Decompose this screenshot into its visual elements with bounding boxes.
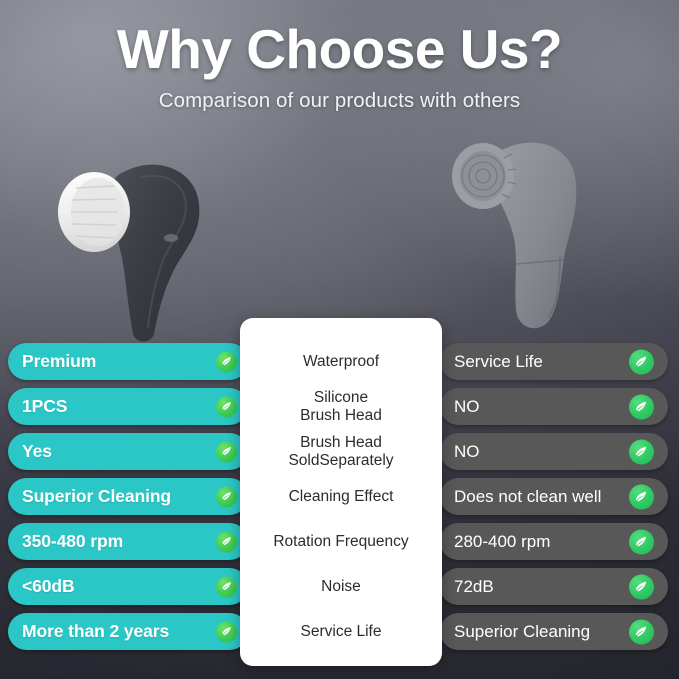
leaf-check-icon xyxy=(629,529,654,554)
feature-label: Service Life xyxy=(240,623,442,641)
poster-header: Why Choose Us? Comparison of our product… xyxy=(0,22,679,113)
our-product-row: Superior Cleaning xyxy=(8,478,248,515)
our-product-value: Yes xyxy=(22,441,52,462)
feature-label: Cleaning Effect xyxy=(240,488,442,506)
our-product-row: 1PCS xyxy=(8,388,248,425)
competitor-product-value: 72dB xyxy=(454,577,494,597)
feature-label-line: Silicone xyxy=(240,389,442,407)
competitor-product-value: Superior Cleaning xyxy=(454,622,590,642)
our-product-row: More than 2 years xyxy=(8,613,248,650)
competitor-product-value: Service Life xyxy=(454,352,543,372)
feature-label: Noise xyxy=(240,578,442,596)
competitor-product-value: NO xyxy=(454,397,480,417)
feature-label: Rotation Frequency xyxy=(240,533,442,551)
feature-label: Brush HeadSoldSeparately xyxy=(240,434,442,470)
competitor-product-row: 72dB xyxy=(440,568,668,605)
our-product-value: Superior Cleaning xyxy=(22,486,171,507)
leaf-check-icon xyxy=(216,576,237,597)
feature-label-line: Noise xyxy=(240,578,442,596)
competitor-product-row: 280-400 rpm xyxy=(440,523,668,560)
comparison-poster: Why Choose Us? Comparison of our product… xyxy=(0,0,679,679)
leaf-check-icon xyxy=(629,439,654,464)
feature-label-line: Brush Head xyxy=(240,434,442,452)
leaf-check-icon xyxy=(216,486,237,507)
leaf-check-icon xyxy=(216,351,237,372)
page-subtitle: Comparison of our products with others xyxy=(0,89,679,113)
feature-label-line: Rotation Frequency xyxy=(240,533,442,551)
competitor-product-row: NO xyxy=(440,433,668,470)
leaf-check-icon xyxy=(216,441,237,462)
competitor-product-row: Does not clean well xyxy=(440,478,668,515)
our-product-value: Premium xyxy=(22,351,96,372)
our-product-value: <60dB xyxy=(22,576,75,597)
feature-label-line: Service Life xyxy=(240,623,442,641)
competitor-product-value: 280-400 rpm xyxy=(454,532,550,552)
feature-label-line: Cleaning Effect xyxy=(240,488,442,506)
competitor-product-row: Service Life xyxy=(440,343,668,380)
our-product-row: <60dB xyxy=(8,568,248,605)
our-product-value: 350-480 rpm xyxy=(22,531,123,552)
feature-label-card: WaterproofSiliconeBrush HeadBrush HeadSo… xyxy=(240,318,442,666)
feature-label: SiliconeBrush Head xyxy=(240,389,442,425)
leaf-check-icon xyxy=(216,531,237,552)
feature-label-line: SoldSeparately xyxy=(240,452,442,470)
leaf-check-icon xyxy=(629,574,654,599)
our-product-row: 350-480 rpm xyxy=(8,523,248,560)
competitor-product-value: Does not clean well xyxy=(454,487,601,507)
our-product-row: Premium xyxy=(8,343,248,380)
leaf-check-icon xyxy=(629,619,654,644)
leaf-check-icon xyxy=(216,621,237,642)
feature-label-line: Waterproof xyxy=(240,353,442,371)
feature-label-line: Brush Head xyxy=(240,407,442,425)
leaf-check-icon xyxy=(629,394,654,419)
our-product-value: More than 2 years xyxy=(22,621,169,642)
our-product-value: 1PCS xyxy=(22,396,67,417)
leaf-check-icon xyxy=(629,349,654,374)
competitor-product-row: Superior Cleaning xyxy=(440,613,668,650)
competitor-product-value: NO xyxy=(454,442,480,462)
leaf-check-icon xyxy=(216,396,237,417)
feature-label: Waterproof xyxy=(240,353,442,371)
leaf-check-icon xyxy=(629,484,654,509)
our-product-row: Yes xyxy=(8,433,248,470)
competitor-product-row: NO xyxy=(440,388,668,425)
page-title: Why Choose Us? xyxy=(0,22,679,77)
